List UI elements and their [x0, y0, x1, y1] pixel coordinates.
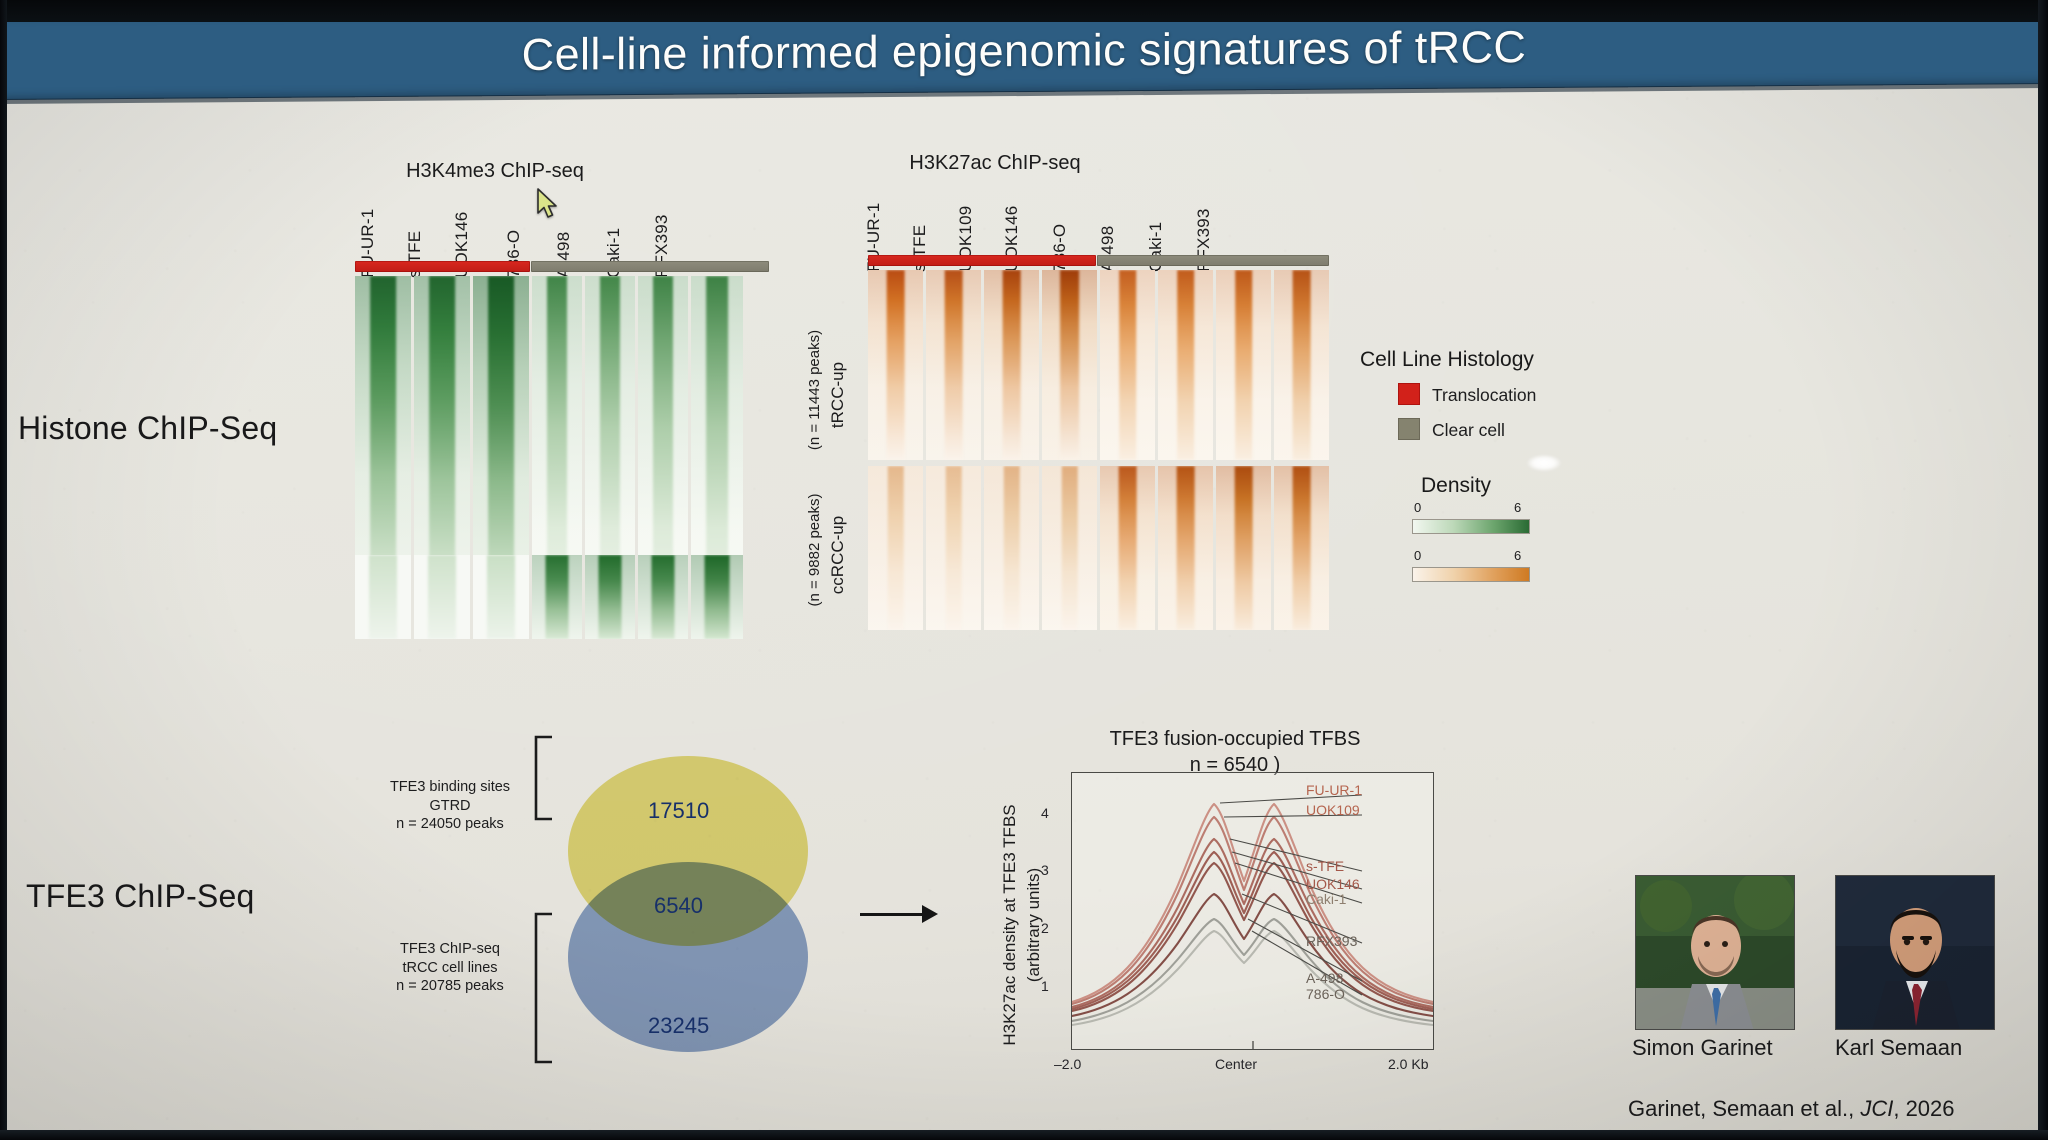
citation-journal: JCI	[1860, 1096, 1893, 1121]
venn-count-top-only: 17510	[648, 798, 709, 824]
density-colorbar-green	[1412, 519, 1530, 534]
citation-suffix: , 2026	[1893, 1096, 1954, 1121]
heatmap-h3k27ac-top	[868, 270, 1330, 460]
k27-rowgroup-ccrcc: ccRCC-up	[828, 470, 848, 640]
venn-label-bottom-line1: TFE3 ChIP-seq	[370, 940, 530, 959]
row-label-tfe3: TFE3 ChIP-Seq	[26, 878, 254, 915]
heatmap-h3k27ac-bottom	[868, 466, 1330, 630]
lineplot-series-label-5: RFX393	[1306, 933, 1357, 949]
venn-label-bottom-line3: n = 20785 peaks	[370, 977, 530, 996]
lineplot-ytick-4: 4	[1041, 805, 1049, 821]
lineplot-frame	[1071, 772, 1434, 1050]
lineplot-series-label-1: UOK109	[1306, 802, 1360, 818]
flow-arrow-line	[860, 913, 924, 916]
legend-title-histology: Cell Line Histology	[1360, 348, 1534, 372]
bezel-left	[0, 0, 7, 1140]
k4-histology-strip-clearcell	[531, 261, 769, 272]
screen-glare	[1527, 455, 1561, 471]
citation-prefix: Garinet, Semaan et al.,	[1628, 1096, 1860, 1121]
k27-rowgroup-ccrcc-detail-wrap: (n = 9882 peaks)	[806, 460, 823, 640]
lineplot-xtick-right: 2.0 Kb	[1388, 1056, 1428, 1072]
author-name-1: Karl Semaan	[1835, 1035, 1962, 1061]
venn-bracket-bottom	[530, 912, 554, 1102]
lineplot-ytick-2: 2	[1041, 920, 1049, 936]
k4-histology-strip-translocation	[355, 261, 530, 272]
lineplot-xtick-left: –2.0	[1054, 1056, 1081, 1072]
avatar-simon-garinet	[1635, 875, 1795, 1030]
bezel-top	[0, 0, 2048, 22]
lineplot-yaxis-line1: H3K27ac density at TFE3 TFBS	[1000, 780, 1020, 1070]
k27-rowgroup-ccrcc-name: ccRCC-up	[828, 516, 847, 594]
legend-label-translocation: Translocation	[1432, 385, 1536, 406]
lineplot-series-label-6: A-498	[1306, 970, 1343, 986]
lineplot-series-label-7: 786-O	[1306, 986, 1345, 1002]
density-colorbar-orange	[1412, 567, 1530, 582]
venn-count-overlap: 6540	[654, 893, 703, 919]
lineplot-ytick-3: 3	[1041, 862, 1049, 878]
avatar-simon-garinet-image	[1636, 876, 1795, 1030]
density-green-min: 0	[1414, 500, 1421, 515]
k27-histology-strip-translocation	[868, 255, 1096, 266]
lineplot-title: TFE3 fusion-occupied TFBS	[1065, 728, 1405, 751]
lineplot-series-label-3: UOK146	[1306, 876, 1360, 892]
density-orange-min: 0	[1414, 548, 1421, 563]
mouse-pointer-icon	[536, 188, 562, 220]
legend-swatch-translocation	[1398, 383, 1420, 405]
k27-rowgroup-trcc-name: tRCC-up	[828, 362, 847, 428]
caption-h3k4me3: H3K4me3 ChIP-seq	[350, 160, 640, 183]
heatmap-h3k4me3-bottom	[355, 555, 769, 639]
venn-label-top-line2: GTRD	[370, 797, 530, 816]
venn-label-top-line1: TFE3 binding sites	[370, 778, 530, 797]
avatar-karl-semaan-image	[1836, 876, 1995, 1030]
legend-title-density: Density	[1421, 474, 1491, 498]
venn-label-bottom-line2: tRCC cell lines	[370, 959, 530, 978]
k27-rowgroup-ccrcc-detail: (n = 9882 peaks)	[806, 494, 823, 607]
density-green-max: 6	[1514, 500, 1521, 515]
lineplot-series-label-4: Caki-1	[1306, 891, 1346, 907]
flow-arrow-head	[922, 905, 938, 923]
row-label-histone: Histone ChIP-Seq	[18, 410, 277, 447]
k27-rowgroup-trcc-detail: (n = 11443 peaks)	[806, 330, 823, 450]
lineplot-series-label-2: s-TFE	[1306, 858, 1344, 874]
venn-count-bottom-only: 23245	[648, 1013, 709, 1039]
venn-label-bottom: TFE3 ChIP-seq tRCC cell lines n = 20785 …	[370, 940, 530, 996]
venn-bracket-top	[530, 735, 554, 905]
bezel-right	[2038, 0, 2048, 1140]
k27-histology-strip-clearcell	[1097, 255, 1329, 266]
author-name-0: Simon Garinet	[1632, 1035, 1773, 1061]
k27-rowgroup-trcc-detail-wrap: (n = 11443 peaks)	[806, 300, 823, 480]
legend-swatch-clearcell	[1398, 418, 1420, 440]
legend-label-clearcell: Clear cell	[1432, 420, 1505, 441]
lineplot-ytick-1: 1	[1041, 978, 1049, 994]
citation: Garinet, Semaan et al., JCI, 2026	[1628, 1096, 1955, 1122]
venn-label-top-line3: n = 24050 peaks	[370, 815, 530, 834]
caption-h3k27ac: H3K27ac ChIP-seq	[845, 152, 1145, 175]
lineplot-xtick-center: Center	[1215, 1056, 1257, 1072]
lineplot-curves	[1072, 773, 1433, 1049]
density-orange-max: 6	[1514, 548, 1521, 563]
bezel-bottom	[0, 1130, 2048, 1140]
slide-root: Cell-line informed epigenomic signatures…	[0, 0, 2048, 1140]
venn-label-top: TFE3 binding sites GTRD n = 24050 peaks	[370, 778, 530, 834]
lineplot-series-label-0: FU-UR-1	[1306, 782, 1362, 798]
avatar-karl-semaan	[1835, 875, 1995, 1030]
k27-rowgroup-trcc: tRCC-up	[828, 310, 848, 480]
